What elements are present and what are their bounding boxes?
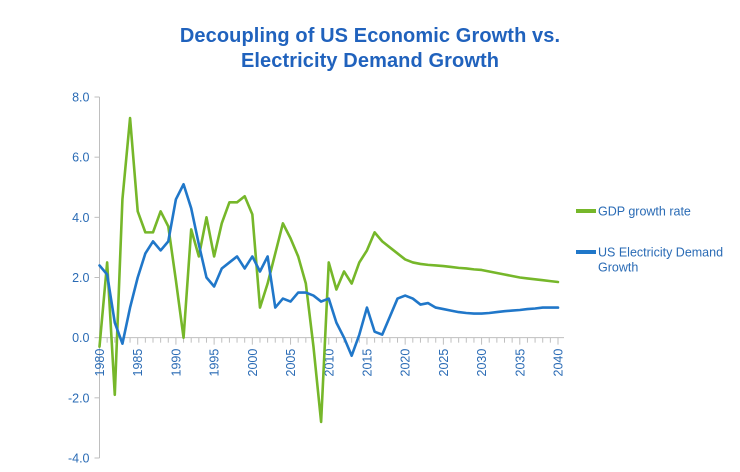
x-axis-tick-label: 2040 bbox=[552, 349, 566, 377]
legend-label-line-2: Growth bbox=[598, 261, 638, 275]
chart-legend: GDP growth rateUS Electricity DemandGrow… bbox=[576, 205, 723, 275]
y-axis-tick-label: -2.0 bbox=[68, 391, 90, 405]
x-axis-tick-label: 1995 bbox=[208, 349, 222, 377]
y-axis-tick-label: -4.0 bbox=[68, 452, 90, 466]
y-axis-tick-label: 0.0 bbox=[72, 331, 89, 345]
chart-container: Decoupling of US Economic Growth vs. Ele… bbox=[0, 0, 740, 472]
y-axis: 8.06.04.02.00.0-2.0-4.0 bbox=[68, 91, 100, 466]
chart-title-line-2: Electricity Demand Growth bbox=[0, 49, 740, 74]
x-axis-tick-label: 1980 bbox=[93, 349, 107, 377]
x-axis-tick-label: 2020 bbox=[399, 349, 413, 377]
legend-label: GDP growth rate bbox=[598, 205, 691, 219]
x-axis-tick-label: 2000 bbox=[246, 349, 260, 377]
x-axis-tick-label: 1990 bbox=[169, 349, 183, 377]
y-axis-tick-label: 6.0 bbox=[72, 151, 89, 165]
chart-title-line-1: Decoupling of US Economic Growth vs. bbox=[180, 25, 560, 47]
x-axis-tick-label: 2015 bbox=[360, 349, 374, 377]
y-axis-tick-label: 8.0 bbox=[72, 91, 89, 105]
page-title: Decoupling of US Economic Growth vs. Ele… bbox=[0, 24, 740, 74]
x-axis-tick-label: 2025 bbox=[437, 349, 451, 377]
x-axis: 1980198519901995200020052010201520202025… bbox=[93, 338, 566, 377]
legend-label: US Electricity Demand bbox=[598, 246, 723, 260]
y-axis-tick-label: 4.0 bbox=[72, 211, 89, 225]
x-axis-tick-label: 1985 bbox=[131, 349, 145, 377]
x-axis-tick-label: 2035 bbox=[513, 349, 527, 377]
x-axis-tick-label: 2030 bbox=[475, 349, 489, 377]
x-axis-tick-label: 2005 bbox=[284, 349, 298, 377]
y-axis-tick-label: 2.0 bbox=[72, 271, 89, 285]
